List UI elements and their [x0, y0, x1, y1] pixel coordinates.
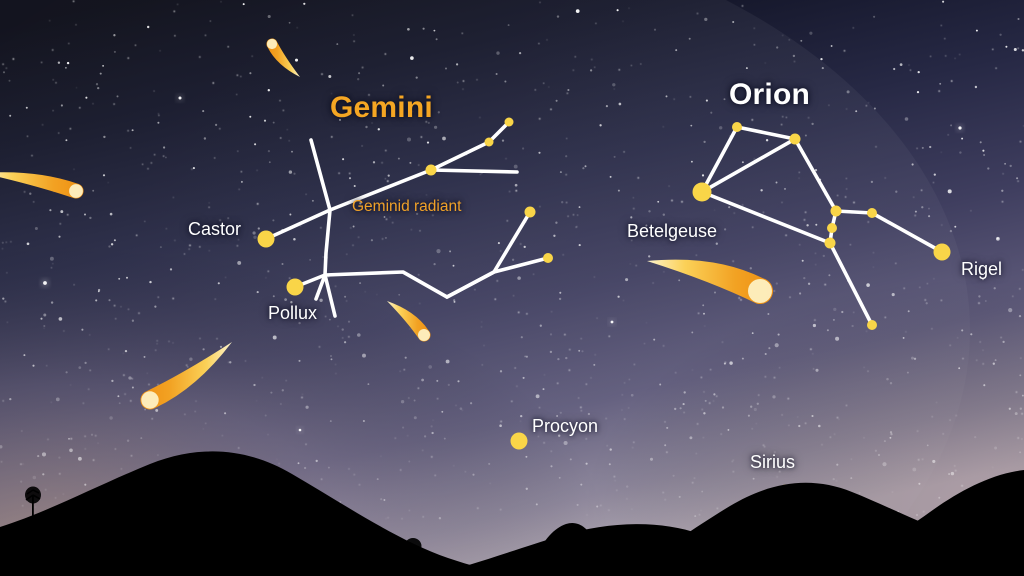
background-star: [1014, 48, 1017, 51]
background-star: [576, 227, 577, 228]
background-star: [303, 3, 305, 5]
background-star: [948, 189, 952, 193]
background-star: [873, 16, 875, 18]
background-star: [377, 478, 379, 480]
background-star: [513, 295, 514, 296]
background-star: [853, 202, 855, 204]
background-star: [126, 277, 128, 279]
background-star: [224, 412, 226, 414]
background-star: [633, 442, 635, 444]
background-star: [67, 214, 68, 215]
background-star: [154, 154, 155, 155]
background-star: [781, 124, 782, 125]
background-star: [763, 212, 765, 214]
background-star: [92, 190, 94, 192]
background-star: [961, 138, 963, 140]
background-star: [448, 384, 450, 386]
background-star: [784, 188, 786, 190]
background-star: [204, 137, 206, 139]
background-star: [694, 515, 696, 517]
background-star: [650, 458, 653, 461]
background-star: [187, 366, 189, 368]
background-star: [838, 419, 839, 420]
background-star: [914, 358, 916, 360]
background-star: [362, 67, 364, 69]
background-star: [936, 402, 937, 403]
background-star: [407, 28, 410, 31]
background-star: [481, 326, 482, 327]
background-star: [1016, 177, 1018, 179]
background-star: [1019, 288, 1020, 289]
background-star: [386, 218, 388, 220]
background-star: [929, 146, 931, 148]
background-star: [273, 336, 277, 340]
background-star: [823, 255, 825, 257]
background-star: [423, 28, 425, 30]
background-star: [815, 369, 818, 372]
background-star: [433, 30, 435, 32]
star-saiph: [867, 208, 877, 218]
background-star: [579, 206, 581, 208]
background-star: [617, 296, 619, 298]
background-star: [916, 514, 918, 516]
background-star: [329, 319, 331, 321]
background-star: [484, 345, 485, 346]
background-star: [123, 374, 125, 376]
background-star: [789, 39, 790, 40]
background-star: [125, 350, 126, 351]
background-star: [219, 128, 220, 129]
background-star: [354, 185, 356, 187]
background-star: [295, 59, 298, 62]
background-star: [961, 485, 963, 487]
background-star: [850, 244, 851, 245]
background-star: [58, 457, 60, 459]
background-star: [157, 343, 158, 344]
background-star: [342, 337, 343, 338]
background-star: [696, 255, 697, 256]
background-star: [535, 89, 536, 90]
background-star: [822, 67, 824, 69]
background-star: [806, 224, 808, 226]
background-star: [425, 121, 427, 123]
background-star: [359, 282, 361, 284]
background-star: [922, 147, 924, 149]
background-star: [999, 34, 1001, 36]
background-star: [663, 126, 664, 127]
background-star: [335, 364, 336, 365]
background-star: [290, 301, 292, 303]
background-star: [515, 184, 518, 187]
background-star: [815, 264, 816, 265]
background-star: [782, 414, 783, 415]
star-mintaka: [825, 238, 836, 249]
background-star: [499, 424, 502, 427]
background-star: [249, 72, 251, 74]
background-star: [108, 299, 110, 301]
background-star: [533, 274, 534, 275]
background-star: [622, 394, 623, 395]
background-star: [754, 158, 756, 160]
background-star: [768, 347, 770, 349]
background-star: [958, 367, 960, 369]
background-star: [199, 338, 200, 339]
background-star: [289, 214, 291, 216]
background-star: [55, 82, 56, 83]
background-star: [941, 152, 942, 153]
background-star: [983, 154, 985, 156]
background-star: [331, 358, 333, 360]
background-star: [409, 510, 410, 511]
background-star: [147, 168, 149, 170]
background-star: [980, 141, 982, 143]
background-star: [229, 361, 231, 363]
background-star: [672, 237, 674, 239]
background-star: [994, 287, 996, 289]
background-star: [476, 79, 477, 80]
background-star: [624, 382, 625, 383]
background-star: [2, 400, 4, 402]
background-star: [149, 281, 151, 283]
background-star: [151, 162, 153, 164]
background-star: [983, 384, 985, 386]
background-star: [498, 242, 500, 244]
background-star: [68, 43, 69, 44]
background-star: [607, 445, 608, 446]
background-star: [202, 110, 204, 112]
background-star: [418, 387, 419, 388]
star-pollux: [287, 279, 304, 296]
background-star: [1004, 163, 1006, 165]
background-star: [804, 219, 806, 221]
background-star: [358, 236, 360, 238]
background-star: [210, 21, 211, 22]
background-star: [228, 362, 229, 363]
background-star: [610, 176, 612, 178]
background-star: [706, 100, 708, 102]
background-star: [113, 103, 114, 104]
background-star: [618, 69, 620, 71]
background-star: [859, 492, 861, 494]
background-star: [938, 497, 940, 499]
background-star: [624, 418, 625, 419]
sky-chart: Gemini Orion Geminid radiant Castor Poll…: [0, 0, 1024, 576]
background-star: [409, 162, 411, 164]
background-star: [674, 99, 675, 100]
background-star: [500, 370, 502, 372]
background-star: [713, 400, 715, 402]
background-star: [155, 349, 156, 350]
background-star: [518, 312, 520, 314]
background-star: [586, 514, 588, 516]
background-star: [1018, 48, 1019, 49]
background-star: [373, 102, 374, 103]
background-star: [922, 458, 924, 460]
background-star: [496, 51, 499, 54]
background-star: [214, 157, 215, 158]
background-star: [405, 357, 407, 359]
background-star: [241, 171, 242, 172]
background-star: [742, 358, 744, 360]
background-star: [776, 282, 778, 284]
background-star: [1008, 308, 1012, 312]
background-star: [480, 174, 481, 175]
background-star: [253, 231, 256, 234]
background-star: [312, 200, 314, 202]
background-star: [536, 394, 540, 398]
background-star: [74, 284, 75, 285]
background-star: [996, 237, 1000, 241]
background-star: [551, 311, 552, 312]
background-star: [652, 282, 653, 283]
background-star: [43, 325, 45, 327]
background-star: [950, 230, 952, 232]
background-star: [866, 331, 867, 332]
background-star: [684, 391, 686, 393]
background-star: [867, 371, 868, 372]
background-star: [6, 272, 7, 273]
background-star: [811, 415, 813, 417]
background-star: [212, 82, 214, 84]
background-star: [831, 45, 833, 47]
background-star: [195, 411, 196, 412]
background-star: [258, 227, 260, 229]
background-star: [907, 372, 909, 374]
background-star: [759, 101, 760, 102]
background-star: [130, 147, 131, 148]
background-star: [629, 379, 630, 380]
background-star: [941, 300, 943, 302]
background-star: [978, 302, 980, 304]
background-star: [892, 492, 893, 493]
background-star: [597, 318, 598, 319]
background-star: [52, 49, 54, 51]
background-star: [46, 365, 47, 366]
background-star: [216, 338, 217, 339]
background-star: [520, 415, 522, 417]
background-star: [5, 301, 7, 303]
background-star: [297, 27, 298, 28]
background-star: [215, 298, 216, 299]
background-star: [282, 389, 284, 391]
background-star: [115, 448, 116, 449]
star-alnitak: [831, 206, 842, 217]
background-star: [205, 35, 206, 36]
background-star: [155, 409, 158, 412]
background-star: [357, 333, 361, 337]
background-star: [306, 194, 307, 195]
background-star: [847, 90, 850, 93]
background-star: [160, 50, 161, 51]
background-star: [914, 215, 916, 217]
background-star: [910, 70, 911, 71]
background-star: [653, 339, 655, 341]
background-star: [722, 406, 724, 408]
background-star: [704, 18, 707, 21]
background-star: [438, 111, 440, 113]
background-star: [703, 313, 705, 315]
background-star: [132, 386, 134, 388]
background-star: [933, 278, 934, 279]
background-star: [349, 173, 351, 175]
background-star: [515, 190, 517, 192]
background-star: [526, 488, 528, 490]
background-star: [97, 87, 99, 89]
background-star: [58, 62, 60, 64]
background-star: [323, 256, 324, 257]
background-star: [805, 211, 807, 213]
background-star: [1017, 437, 1019, 439]
background-star: [586, 463, 588, 465]
background-star: [306, 406, 309, 409]
background-star: [975, 86, 977, 88]
background-star: [119, 402, 121, 404]
background-star: [454, 301, 456, 303]
background-star: [85, 97, 87, 99]
background-star: [539, 118, 541, 120]
background-star: [578, 350, 580, 352]
background-star: [753, 478, 755, 480]
background-star: [580, 407, 582, 409]
background-star: [463, 80, 465, 82]
background-star: [724, 98, 726, 100]
background-star: [40, 318, 42, 320]
background-star: [882, 462, 886, 466]
background-star: [846, 178, 847, 179]
background-star: [416, 213, 418, 215]
background-star: [428, 365, 432, 369]
background-star: [874, 107, 876, 109]
background-star: [158, 113, 159, 114]
background-star: [788, 425, 789, 426]
background-star: [703, 437, 704, 438]
background-star: [566, 202, 568, 204]
background-star: [49, 209, 51, 211]
background-star: [595, 23, 596, 24]
background-star: [95, 299, 97, 301]
background-star: [605, 418, 607, 420]
background-star: [698, 312, 700, 314]
background-star: [140, 437, 142, 439]
background-star: [2, 297, 4, 299]
background-star: [995, 68, 996, 69]
background-star: [385, 178, 386, 179]
background-star: [704, 325, 705, 326]
background-star: [115, 318, 116, 319]
background-star: [449, 250, 451, 252]
background-star: [350, 227, 351, 228]
background-star: [336, 43, 338, 45]
background-star: [521, 336, 523, 338]
background-star: [581, 350, 583, 352]
background-star: [628, 407, 629, 408]
background-star: [782, 35, 783, 36]
background-star: [912, 163, 914, 165]
background-star: [703, 412, 705, 414]
background-star: [424, 435, 426, 437]
background-star: [596, 505, 598, 507]
background-star: [1021, 439, 1022, 440]
background-star: [1020, 408, 1022, 410]
background-star: [2, 242, 4, 244]
background-star: [943, 433, 944, 434]
background-star: [522, 147, 524, 149]
background-star: [446, 360, 450, 364]
background-star: [637, 177, 639, 179]
background-star: [78, 457, 82, 461]
background-star: [923, 511, 925, 513]
background-star: [878, 454, 880, 456]
background-star: [732, 21, 734, 23]
background-star: [623, 300, 624, 301]
background-star: [256, 400, 257, 401]
background-star: [814, 319, 816, 321]
background-star: [388, 175, 390, 177]
background-star: [270, 392, 272, 394]
background-star: [539, 206, 540, 207]
background-star: [392, 222, 394, 224]
background-star: [1019, 374, 1021, 376]
background-star: [828, 105, 829, 106]
background-star: [300, 225, 301, 226]
background-star: [298, 322, 300, 324]
background-star: [1022, 269, 1023, 270]
background-star: [746, 67, 748, 69]
background-star: [273, 295, 275, 297]
background-star: [606, 105, 608, 107]
background-star: [714, 292, 716, 294]
background-star: [500, 250, 501, 251]
background-star: [776, 46, 778, 48]
background-star: [335, 285, 337, 287]
background-star: [727, 429, 729, 431]
background-star: [151, 418, 152, 419]
meteor-top-left-head: [267, 39, 277, 49]
background-star: [689, 38, 691, 40]
background-star: [575, 56, 576, 57]
background-star: [932, 460, 935, 463]
background-star: [191, 168, 193, 170]
background-star: [357, 78, 359, 80]
background-star: [130, 400, 132, 402]
background-star: [135, 45, 136, 46]
background-star: [586, 438, 587, 439]
background-star: [921, 206, 923, 208]
background-star: [84, 362, 86, 364]
background-star: [109, 416, 112, 419]
background-star: [562, 254, 564, 256]
background-star: [664, 421, 665, 422]
background-star: [664, 444, 666, 446]
background-star: [918, 71, 920, 73]
background-star: [719, 126, 722, 129]
background-star: [156, 340, 158, 342]
background-star: [505, 158, 507, 160]
background-star: [524, 355, 526, 357]
background-star: [699, 230, 701, 232]
background-star: [622, 21, 623, 22]
background-star: [919, 287, 920, 288]
background-star: [42, 452, 46, 456]
background-star: [186, 364, 188, 366]
background-star: [289, 140, 290, 141]
background-star: [811, 123, 813, 125]
background-star: [836, 480, 838, 482]
background-star: [867, 221, 869, 223]
background-star: [482, 364, 483, 365]
background-star: [561, 201, 563, 203]
background-star: [1012, 296, 1013, 297]
